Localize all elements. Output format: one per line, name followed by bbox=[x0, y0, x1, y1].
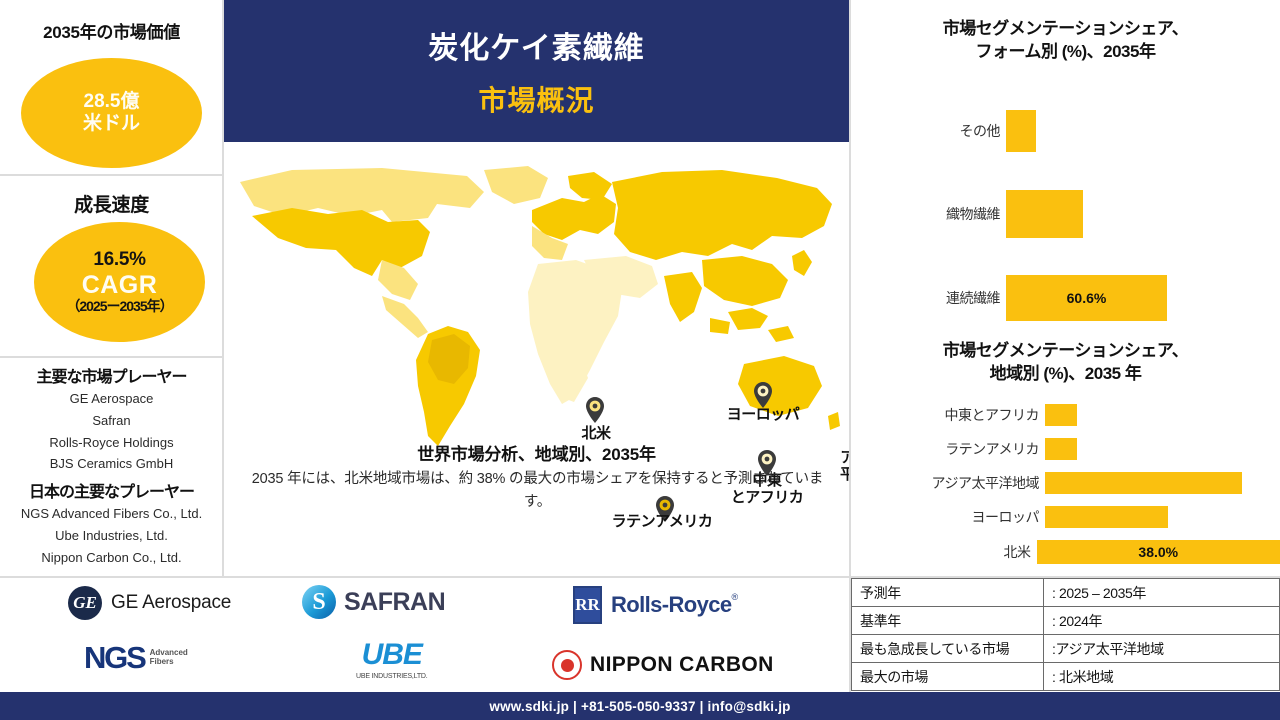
logo-ngs-text: NGS bbox=[84, 640, 145, 676]
form-bar-continuous: 60.6% bbox=[1006, 275, 1167, 321]
form-bar-label: 連続繊維 bbox=[851, 288, 1000, 308]
logo-safran-text: SAFRAN bbox=[344, 588, 445, 617]
japan-player-item: NGS Advanced Fibers Co., Ltd. bbox=[0, 503, 223, 525]
region-bar-row-mea: 中東とアフリカ bbox=[851, 404, 1280, 426]
region-bar-row-apac: アジア太平洋地域 bbox=[851, 472, 1280, 494]
form-bar-value: 60.6% bbox=[1067, 290, 1107, 306]
logo-ngs-subtext: Advanced Fibers bbox=[150, 649, 188, 667]
table-row: 最も急成長している市場 :アジア太平洋地域 bbox=[852, 635, 1280, 663]
info-key: 基準年 bbox=[852, 607, 1044, 635]
region-bar-mea bbox=[1045, 404, 1077, 426]
region-bar-row-europe: ヨーロッパ bbox=[851, 506, 1280, 528]
table-row: 予測年 : 2025 – 2035年 bbox=[852, 579, 1280, 607]
map-label-latin-america: ラテンアメリカ bbox=[588, 514, 736, 531]
japan-players-list: NGS Advanced Fibers Co., Ltd. Ube Indust… bbox=[0, 503, 223, 568]
footer-bar: www.sdki.jp | +81-505-050-9337 | info@sd… bbox=[0, 692, 1280, 720]
cagr-range: （2025ー2035年） bbox=[66, 298, 172, 315]
region-bar-label: ラテンアメリカ bbox=[851, 439, 1039, 459]
page-subtitle: 市場概況 bbox=[478, 79, 594, 119]
region-bar-row-latam: ラテンアメリカ bbox=[851, 438, 1280, 460]
charts-column: 市場セグメンテーションシェア、 フォーム別 (%)、2035年 その他 織物繊維… bbox=[851, 0, 1280, 576]
region-bar-europe bbox=[1045, 506, 1168, 528]
logo-nippon-carbon-text: NIPPON CARBON bbox=[590, 653, 774, 677]
map-body-text: 2035 年には、北米地域市場は、約 38% の最大の市場シェアを保持すると予測… bbox=[250, 468, 825, 514]
form-bar-label: その他 bbox=[851, 121, 1000, 141]
info-value: : 2024年 bbox=[1044, 607, 1280, 635]
market-value-title: 2035年の市場価値 bbox=[0, 18, 223, 43]
map-pin-north-america bbox=[584, 396, 606, 424]
cagr-percent: 16.5% bbox=[93, 249, 145, 271]
japan-player-item: Ube Industries, Ltd. bbox=[0, 525, 223, 547]
market-value-ellipse: 28.5億 米ドル bbox=[21, 58, 202, 168]
key-player-item: BJS Ceramics GmbH bbox=[0, 453, 223, 475]
info-value: :アジア太平洋地域 bbox=[1044, 635, 1280, 663]
logo-ube: UBE UBE INDUSTRIES,LTD. bbox=[356, 638, 428, 680]
info-table-element: 予測年 : 2025 – 2035年 基準年 : 2024年 最も急成長している… bbox=[851, 578, 1280, 691]
table-row: 最大の市場 : 北米地域 bbox=[852, 663, 1280, 691]
logo-safran: S SAFRAN bbox=[302, 585, 445, 619]
ge-monogram-icon: GE bbox=[68, 586, 102, 620]
logo-ngs: NGS Advanced Fibers bbox=[84, 640, 188, 676]
region-bar-row-north-america: 北米 38.0% bbox=[851, 540, 1280, 564]
market-value-line1: 28.5億 bbox=[84, 91, 140, 113]
region-chart-title: 市場セグメンテーションシェア、 地域別 (%)、2035 年 bbox=[859, 340, 1272, 386]
growth-title: 成長速度 bbox=[0, 190, 223, 217]
cagr-ellipse: 16.5% CAGR （2025ー2035年） bbox=[34, 222, 205, 342]
map-label-europe: ヨーロッパ bbox=[713, 407, 813, 424]
logo-rolls-royce-text: Rolls-Royce bbox=[611, 592, 732, 618]
form-bar-label: 織物繊維 bbox=[851, 204, 1000, 224]
key-player-item: GE Aerospace bbox=[0, 388, 223, 410]
map-pin-europe bbox=[752, 381, 774, 409]
divider-1 bbox=[0, 174, 223, 176]
info-value: : 北米地域 bbox=[1044, 663, 1280, 691]
info-value: : 2025 – 2035年 bbox=[1044, 579, 1280, 607]
form-bar-other bbox=[1006, 110, 1036, 152]
market-value-line2: 米ドル bbox=[83, 113, 140, 135]
form-bar-row-continuous: 連続繊維 60.6% bbox=[851, 275, 1280, 321]
key-players-list: GE Aerospace Safran Rolls-Royce Holdings… bbox=[0, 388, 223, 475]
location-pin-icon bbox=[584, 396, 606, 424]
cagr-label: CAGR bbox=[82, 272, 158, 298]
region-bar-label: 北米 bbox=[851, 542, 1031, 562]
region-bar-label: アジア太平洋地域 bbox=[851, 473, 1039, 493]
logo-ube-text: UBE bbox=[362, 638, 422, 672]
summary-info-table: 予測年 : 2025 – 2035年 基準年 : 2024年 最も急成長している… bbox=[851, 578, 1280, 691]
region-bar-value: 38.0% bbox=[1138, 544, 1178, 560]
page-title: 炭化ケイ素繊維 bbox=[428, 23, 644, 67]
nippon-carbon-dot bbox=[561, 659, 574, 672]
company-logos-section: GE GE Aerospace S SAFRAN RR Rolls-Royce … bbox=[0, 578, 849, 691]
logo-nippon-carbon: NIPPON CARBON bbox=[552, 650, 774, 680]
region-chart-title-line2: 地域別 (%)、2035 年 bbox=[859, 363, 1272, 386]
key-players-heading: 主要な市場プレーヤー bbox=[0, 363, 223, 387]
info-key: 最も急成長している市場 bbox=[852, 635, 1044, 663]
region-chart-title-line1: 市場セグメンテーションシェア、 bbox=[859, 340, 1272, 363]
footer-contact-text: www.sdki.jp | +81-505-050-9337 | info@sd… bbox=[489, 699, 790, 714]
region-bar-label: ヨーロッパ bbox=[851, 507, 1039, 527]
region-bar-north-america: 38.0% bbox=[1037, 540, 1280, 564]
info-key: 最大の市場 bbox=[852, 663, 1044, 691]
logo-ube-subtext: UBE INDUSTRIES,LTD. bbox=[356, 673, 428, 680]
table-row: 基準年 : 2024年 bbox=[852, 607, 1280, 635]
info-key: 予測年 bbox=[852, 579, 1044, 607]
logo-ge-aerospace: GE GE Aerospace bbox=[68, 586, 231, 620]
world-map-panel: 北米 ヨーロッパ 中東 とアフリカ 中東 とアフリカ bbox=[224, 144, 849, 576]
region-bar-latam bbox=[1045, 438, 1077, 460]
form-bar-row-other: その他 bbox=[851, 110, 1280, 152]
logo-ge-aerospace-text: GE Aerospace bbox=[111, 592, 231, 614]
location-pin-icon bbox=[752, 381, 774, 409]
map-caption: 世界市場分析、地域別、2035年 bbox=[224, 440, 849, 465]
form-chart-title: 市場セグメンテーションシェア、 フォーム別 (%)、2035年 bbox=[859, 18, 1272, 64]
left-stats-column: 2035年の市場価値 28.5億 米ドル 成長速度 16.5% CAGR （20… bbox=[0, 0, 223, 576]
safran-swirl-icon: S bbox=[302, 585, 336, 619]
key-player-item: Safran bbox=[0, 410, 223, 432]
nippon-carbon-circle-icon bbox=[552, 650, 582, 680]
logo-rolls-royce: RR Rolls-Royce ® bbox=[573, 586, 738, 624]
infographic-page: 2035年の市場価値 28.5億 米ドル 成長速度 16.5% CAGR （20… bbox=[0, 0, 1280, 720]
form-chart-title-line2: フォーム別 (%)、2035年 bbox=[859, 41, 1272, 64]
rolls-royce-rr-icon: RR bbox=[573, 586, 602, 624]
ngs-sub-line2: Fibers bbox=[150, 658, 188, 667]
key-player-item: Rolls-Royce Holdings bbox=[0, 432, 223, 454]
header-band: 炭化ケイ素繊維 市場概況 bbox=[224, 0, 849, 142]
form-bar-row-woven: 織物繊維 bbox=[851, 190, 1280, 238]
form-bar-woven bbox=[1006, 190, 1083, 238]
japan-player-item: Nippon Carbon Co., Ltd. bbox=[0, 547, 223, 569]
japan-players-heading: 日本の主要なプレーヤー bbox=[0, 478, 223, 502]
region-bar-apac bbox=[1045, 472, 1242, 494]
rolls-royce-registered-mark: ® bbox=[732, 592, 739, 602]
divider-2 bbox=[0, 356, 223, 358]
region-bar-label: 中東とアフリカ bbox=[851, 405, 1039, 425]
form-chart-title-line1: 市場セグメンテーションシェア、 bbox=[859, 18, 1272, 41]
